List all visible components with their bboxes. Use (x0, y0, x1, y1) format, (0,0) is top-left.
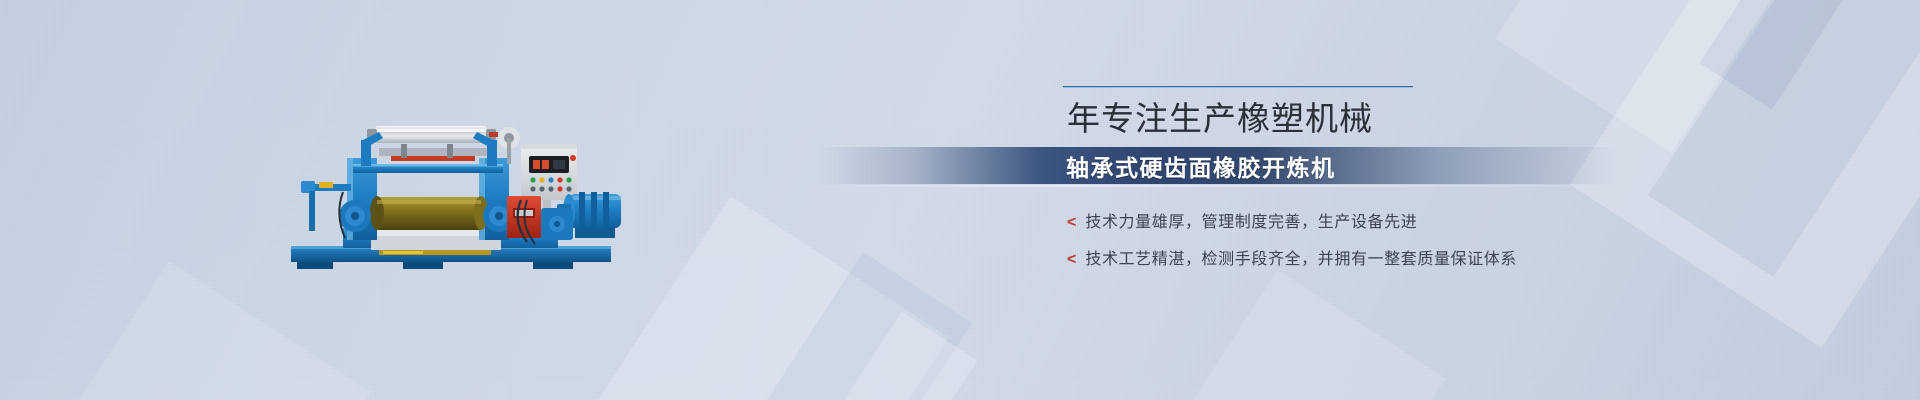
subtitle-bar: 轴承式硬齿面橡胶开炼机 (818, 147, 1618, 184)
chevron-left-icon: < (1067, 252, 1076, 268)
list-item: < 技术力量雄厚，管理制度完善，生产设备先进 (1067, 208, 1623, 232)
promo-banner: 年专注生产橡塑机械 轴承式硬齿面橡胶开炼机 < 技术力量雄厚，管理制度完善，生产… (0, 0, 1920, 400)
headline-divider (1063, 86, 1413, 88)
feature-text: 技术力量雄厚，管理制度完善，生产设备先进 (1085, 208, 1417, 232)
chevron-left-icon: < (1067, 215, 1076, 231)
decorative-shape-3 (1700, 0, 1865, 110)
feature-text: 技术工艺精湛，检测手段齐全，并拥有一整套质量保证体系 (1085, 245, 1517, 269)
product-name: 轴承式硬齿面橡胶开炼机 (1066, 149, 1336, 183)
decorative-shape-2 (1648, 0, 1920, 277)
product-photo-rubber-mill (283, 96, 628, 272)
banner-content: 年专注生产橡塑机械 轴承式硬齿面橡胶开炼机 < 技术力量雄厚，管理制度完善，生产… (1063, 86, 1623, 282)
page-title: 年专注生产橡塑机械 (1067, 100, 1623, 140)
decorative-shape-6 (678, 252, 972, 400)
decorative-shape-7 (793, 312, 977, 400)
feature-list: < 技术力量雄厚，管理制度完善，生产设备先进 < 技术工艺精湛，检测手段齐全，并… (1067, 208, 1623, 269)
decorative-shape-8 (1114, 270, 1445, 400)
list-item: < 技术工艺精湛，检测手段齐全，并拥有一整套质量保证体系 (1067, 245, 1623, 269)
decorative-shape-9 (0, 261, 371, 400)
